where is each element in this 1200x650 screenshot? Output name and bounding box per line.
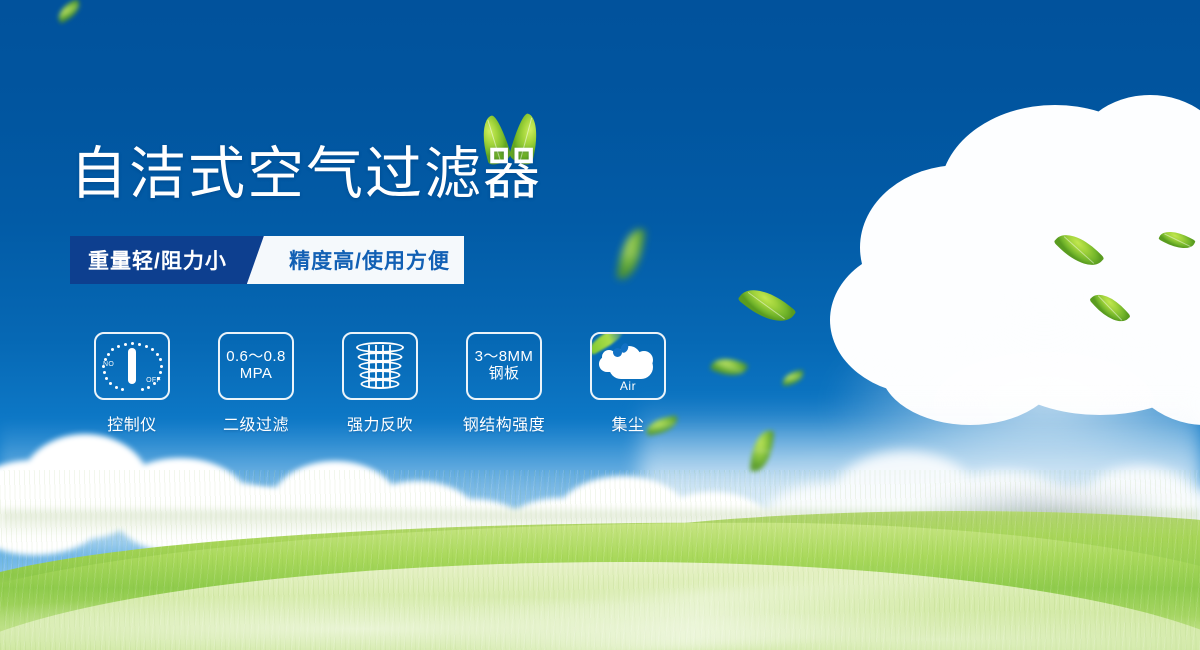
- gauge-needle: [128, 348, 136, 384]
- feature-label: 二级过滤: [223, 411, 289, 435]
- subtitle-bar: 重量轻/阻力小 精度高/使用方便: [70, 236, 464, 284]
- feature-item-controller[interactable]: NO OFF 控制仪: [70, 332, 194, 435]
- feature-label: 钢结构强度: [463, 411, 546, 435]
- air-label: Air: [597, 379, 659, 393]
- feature-icon-box: 3～8MM 钢板: [466, 332, 542, 400]
- feature-icon-box: 0.6～0.8 MPA: [218, 332, 294, 400]
- feature-icon-box: [342, 332, 418, 400]
- grass-light-sheen: [0, 580, 1200, 650]
- banner-stage: 自洁式空气过滤器 重量轻/阻力小 精度高/使用方便: [0, 0, 1200, 650]
- air-cloud-icon: Air: [597, 339, 659, 393]
- gauge-label-no: NO: [103, 361, 114, 368]
- steel-value-line2: 钢板: [489, 366, 520, 383]
- feature-item-steel-strength[interactable]: 3～8MM 钢板 钢结构强度: [442, 332, 566, 435]
- page-title: 自洁式空气过滤器: [70, 146, 542, 203]
- feature-icon-box: Air: [590, 332, 666, 400]
- feature-item-secondary-filter[interactable]: 0.6～0.8 MPA 二级过滤: [194, 332, 318, 435]
- gauge-label-off: OFF: [146, 377, 161, 384]
- feature-label: 强力反吹: [347, 411, 413, 435]
- subtitle-right: 精度高/使用方便: [247, 236, 464, 284]
- pressure-value-line1: 0.6～0.8: [226, 349, 286, 366]
- feature-item-backblow[interactable]: 强力反吹: [318, 332, 442, 435]
- grass-field: [0, 470, 1200, 650]
- feature-list: NO OFF 控制仪 0.6～0.8 MPA 二级过滤: [70, 332, 690, 435]
- steel-value-line1: 3～8MM: [475, 349, 534, 366]
- feature-label: 集尘: [611, 411, 644, 435]
- subtitle-left: 重量轻/阻力小: [70, 236, 247, 284]
- gauge-dial-icon: NO OFF: [102, 339, 162, 393]
- filter-cartridge-icon: [354, 339, 406, 393]
- feature-icon-box: NO OFF: [94, 332, 170, 400]
- pressure-value-line2: MPA: [240, 366, 273, 383]
- feature-label: 控制仪: [107, 411, 157, 435]
